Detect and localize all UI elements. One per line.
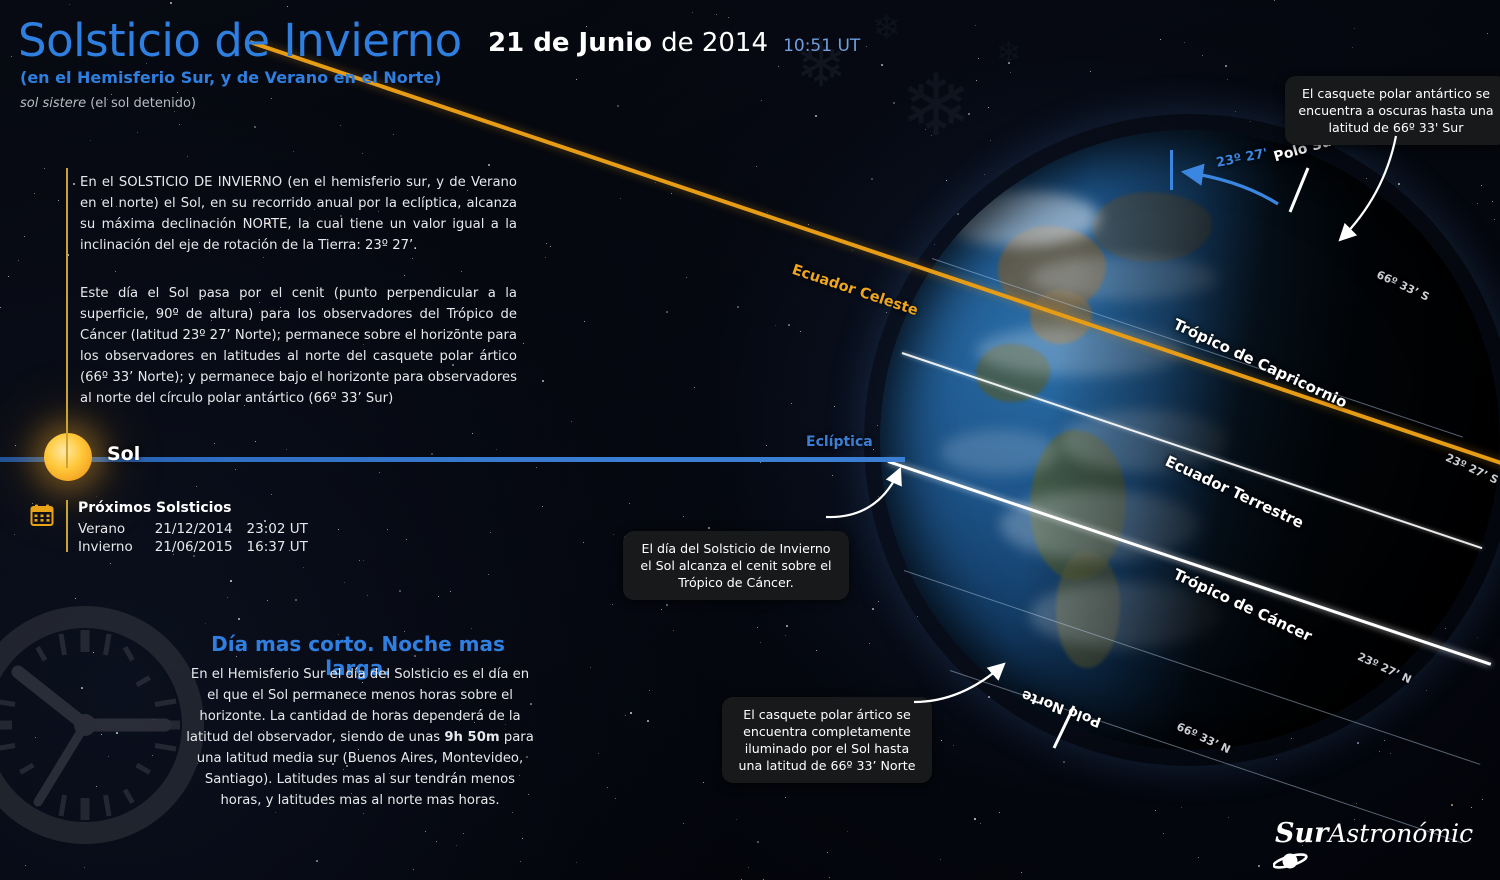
snowflake-icon: ❄ bbox=[872, 8, 901, 48]
clock-icon bbox=[0, 600, 210, 850]
callout-zenith-pointer bbox=[820, 455, 930, 545]
left-accent-rule bbox=[66, 168, 68, 468]
season-cell: Verano bbox=[78, 520, 133, 538]
clock-second-hand bbox=[38, 725, 85, 802]
snowflake-icon: ❄ bbox=[996, 36, 1021, 71]
next-solstices-title: Próximos Solsticios bbox=[78, 500, 231, 516]
date-year: de 2014 bbox=[661, 28, 768, 58]
date-cell: 21/06/2015 bbox=[133, 538, 233, 556]
logo-part-astronomico: Astronómic bbox=[1328, 819, 1473, 848]
solstices-accent-rule bbox=[66, 500, 68, 552]
date-bold: 21 de Junio bbox=[488, 28, 652, 58]
time-cell: 16:37 UT bbox=[233, 538, 308, 556]
logo[interactable]: SurAstronómic bbox=[1275, 818, 1490, 866]
page-title: Solsticio de Invierno bbox=[18, 14, 462, 67]
intro-paragraph-1: En el SOLSTICIO DE INVIERNO (en el hemis… bbox=[80, 172, 517, 256]
intro-paragraph-2: Este día el Sol pasa por el cenit (punto… bbox=[80, 283, 517, 409]
callout-arctic-pointer bbox=[900, 640, 1030, 720]
time-cell: 23:02 UT bbox=[233, 520, 308, 538]
table-row: Invierno 21/06/2015 16:37 UT bbox=[78, 538, 308, 556]
ecliptic-label: Eclíptica bbox=[806, 434, 873, 450]
next-solstices-table: Verano 21/12/2014 23:02 UT Invierno 21/0… bbox=[78, 520, 308, 556]
logo-part-sur: Sur bbox=[1275, 818, 1328, 849]
callout-zenith: El día del Solsticio de Invierno el Sol … bbox=[623, 531, 849, 600]
day-length-highlight: 9h 50m bbox=[444, 730, 499, 745]
latin-etymology: sol sistere (el sol detenido) bbox=[20, 96, 196, 111]
callout-antarctic-pointer bbox=[1300, 134, 1420, 254]
page-subtitle: (en el Hemisferio Sur, y de Verano en el… bbox=[20, 68, 441, 87]
event-time: 10:51 UT bbox=[783, 36, 860, 56]
table-row: Verano 21/12/2014 23:02 UT bbox=[78, 520, 308, 538]
date-cell: 21/12/2014 bbox=[133, 520, 233, 538]
sun-icon bbox=[44, 433, 92, 481]
latin-gloss: (el sol detenido) bbox=[90, 96, 196, 111]
sun-label: Sol bbox=[107, 443, 140, 465]
season-cell: Invierno bbox=[78, 538, 133, 556]
event-date: 21 de Junio de 2014 10:51 UT bbox=[488, 28, 860, 58]
north-pole-pointer bbox=[1040, 700, 1084, 754]
infographic-canvas: ❄ ❄ ❄ ❄ bbox=[0, 0, 1500, 880]
saturn-planet-icon bbox=[1273, 849, 1309, 871]
calendar-icon bbox=[30, 503, 54, 527]
day-length-body: En el Hemisferio Sur el día del Solstici… bbox=[186, 664, 534, 811]
clock-hour-hand bbox=[18, 672, 85, 725]
latin-term: sol sistere bbox=[20, 96, 86, 111]
